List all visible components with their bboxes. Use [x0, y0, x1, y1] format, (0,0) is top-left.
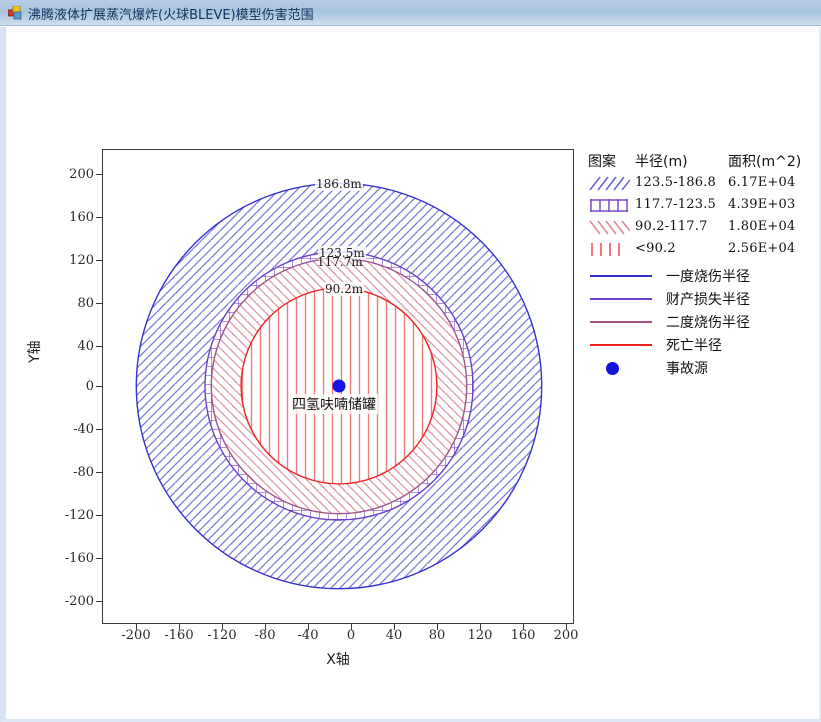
x-tickmark: [566, 624, 567, 630]
legend-radius-3: <90.2: [635, 241, 676, 256]
legend-radius-2: 90.2-117.7: [635, 219, 708, 234]
legend-area-3: 2.56E+04: [728, 241, 795, 256]
legend-point-label: 事故源: [666, 358, 708, 378]
y-tick-m120: -120: [48, 508, 94, 523]
y-axis-title: Y轴: [24, 340, 44, 363]
legend-accident-source: 事故源: [588, 357, 813, 380]
x-tickmark: [351, 624, 352, 630]
x-tick-m40: -40: [285, 628, 331, 643]
y-tickmark: [96, 472, 102, 473]
x-tickmark: [265, 624, 266, 630]
y-tickmark: [96, 558, 102, 559]
y-tick-m40: -40: [48, 422, 94, 437]
ring-label-186: 186.8m: [315, 177, 363, 191]
x-tick-200: 200: [543, 628, 589, 643]
x-tick-40: 40: [371, 628, 417, 643]
app-squares-icon: [8, 6, 22, 20]
y-tick-120: 120: [48, 253, 94, 268]
y-tickmark: [96, 174, 102, 175]
x-tick-m120: -120: [199, 628, 245, 643]
legend-header-radius: 半径(m): [635, 151, 688, 171]
legend-header-row: 图案 半径(m) 面积(m^2): [588, 151, 813, 173]
legend-area-0: 6.17E+04: [728, 175, 795, 190]
legend-row-death: <90.2 2.56E+04: [588, 239, 813, 261]
legend-line-label-1: 财产损失半径: [666, 289, 750, 309]
legend-row-second-degree-burn: 90.2-117.7 1.80E+04: [588, 217, 813, 239]
y-tick-40: 40: [48, 339, 94, 354]
forward-hatch-icon: [588, 176, 630, 191]
vertical-lines-icon: [588, 242, 630, 257]
x-tick-160: 160: [500, 628, 546, 643]
accident-source-label: 四氢呋喃储罐: [290, 394, 378, 414]
x-tick-0: 0: [328, 628, 374, 643]
y-tickmark: [96, 386, 102, 387]
y-tickmark: [96, 303, 102, 304]
x-tick-m160: -160: [156, 628, 202, 643]
legend-area-1: 4.39E+03: [728, 197, 795, 212]
title-bar: 沸腾液体扩展蒸汽爆炸(火球BLEVE)模型伤害范围: [0, 0, 821, 26]
legend-header-area: 面积(m^2): [728, 151, 801, 171]
y-tick-200: 200: [48, 167, 94, 182]
y-tickmark: [96, 346, 102, 347]
y-tick-160: 160: [48, 210, 94, 225]
line-swatch-purple: [590, 298, 652, 300]
x-tickmark: [179, 624, 180, 630]
legend-line-label-0: 一度烧伤半径: [666, 266, 750, 286]
legend-row-property-loss: 117.7-123.5 4.39E+03: [588, 195, 813, 217]
y-tickmark: [96, 217, 102, 218]
x-tickmark: [394, 624, 395, 630]
y-tick-m80: -80: [48, 465, 94, 480]
x-tick-80: 80: [414, 628, 460, 643]
y-tick-0: 0: [48, 379, 94, 394]
legend-header-pattern: 图案: [588, 151, 616, 171]
y-tickmark: [96, 260, 102, 261]
application-window: 沸腾液体扩展蒸汽爆炸(火球BLEVE)模型伤害范围: [0, 0, 821, 722]
x-tickmark: [136, 624, 137, 630]
accident-source-marker: [333, 380, 346, 393]
legend-line-second-degree-burn: 二度烧伤半径: [588, 311, 813, 334]
y-tickmark: [96, 515, 102, 516]
x-axis-title: X轴: [102, 649, 574, 669]
damage-rings-svg: [103, 150, 573, 623]
line-swatch-mauve: [590, 321, 652, 323]
legend-area-2: 1.80E+04: [728, 219, 795, 234]
window-title: 沸腾液体扩展蒸汽爆炸(火球BLEVE)模型伤害范围: [28, 4, 314, 23]
y-tickmark: [96, 601, 102, 602]
x-tick-m200: -200: [113, 628, 159, 643]
legend-radius-1: 117.7-123.5: [635, 197, 716, 212]
x-tickmark: [308, 624, 309, 630]
line-swatch-blue: [590, 275, 652, 277]
x-tickmark: [437, 624, 438, 630]
legend-line-first-degree-burn: 一度烧伤半径: [588, 265, 813, 288]
x-tick-120: 120: [457, 628, 503, 643]
line-swatch-red: [590, 344, 652, 346]
y-tick-m200: -200: [48, 594, 94, 609]
window-body: 186.8m 123.5m 117.7m 90.2m 四氢呋喃储罐 200 16…: [0, 27, 821, 722]
x-tick-m80: -80: [242, 628, 288, 643]
legend-line-label-2: 二度烧伤半径: [666, 312, 750, 332]
legend-line-property-loss: 财产损失半径: [588, 288, 813, 311]
legend-line-label-3: 死亡半径: [666, 335, 722, 355]
x-tickmark: [480, 624, 481, 630]
y-tickmark: [96, 429, 102, 430]
x-tickmark: [523, 624, 524, 630]
ring-label-117: 117.7m: [316, 255, 364, 269]
accident-source-dot-icon: [606, 362, 619, 375]
y-tick-80: 80: [48, 296, 94, 311]
chart-legend: 图案 半径(m) 面积(m^2) 123.5-186.8 6.17E+04 11…: [588, 151, 813, 380]
legend-radius-0: 123.5-186.8: [635, 175, 716, 190]
cross-hatch-icon: [588, 198, 630, 213]
back-hatch-icon: [588, 220, 630, 235]
ring-label-90: 90.2m: [324, 282, 364, 296]
legend-line-death: 死亡半径: [588, 334, 813, 357]
y-tick-m160: -160: [48, 551, 94, 566]
chart-plot-area: 186.8m 123.5m 117.7m 90.2m 四氢呋喃储罐: [102, 149, 574, 624]
legend-row-first-degree-burn: 123.5-186.8 6.17E+04: [588, 173, 813, 195]
x-tickmark: [222, 624, 223, 630]
